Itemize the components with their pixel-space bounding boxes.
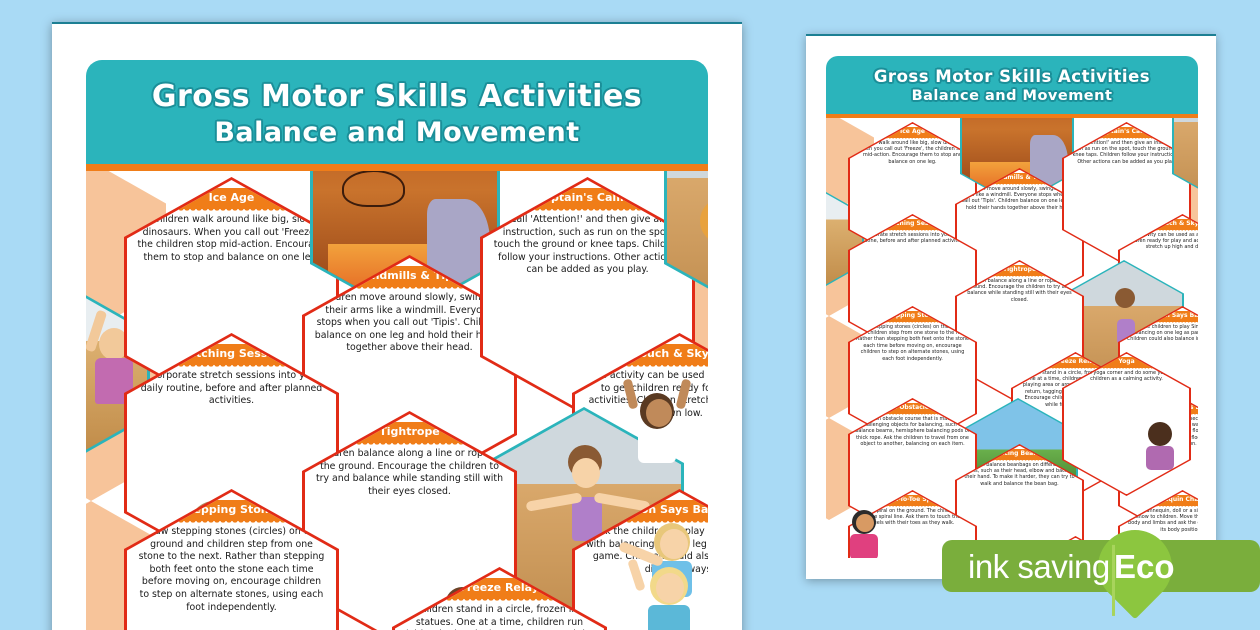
poster-large: Gross Motor Skills Activities Balance an… [86, 60, 708, 630]
illustration-boy-bottom-right [628, 557, 708, 630]
child-hair [700, 199, 708, 243]
thumbnail-poster-page[interactable]: Gross Motor Skills Activities Balance an… [806, 34, 1216, 579]
card-title: Captain's Calling [510, 188, 665, 209]
card-text: Call 'Attention!' and then give an instr… [1064, 138, 1190, 166]
header-divider [86, 164, 708, 171]
illustration-boy-arms-up [624, 379, 690, 469]
poster-header: Gross Motor Skills Activities Balance an… [86, 60, 708, 164]
poster-title-line1: Gross Motor Skills Activities [832, 66, 1192, 87]
gymnast-arm-right [594, 492, 651, 512]
poster-title-line2: Balance and Movement [832, 87, 1192, 106]
eco-leaf-label: Eco [1114, 548, 1175, 586]
poster-title-line2: Balance and Movement [96, 116, 698, 150]
poster-header-small: Gross Motor Skills Activities Balance an… [826, 56, 1198, 114]
poster-title-line1: Gross Motor Skills Activities [96, 78, 698, 116]
card-text: Call 'Attention!' and then give an instr… [483, 209, 692, 277]
main-poster-page: Gross Motor Skills Activities Balance an… [52, 22, 742, 630]
card-title: Ice Age [866, 127, 959, 138]
ink-saving-eco-badge: ink saving Eco [942, 534, 1260, 598]
illustration-girl-bottom-left [842, 508, 888, 558]
cave-animal-drawing [342, 171, 405, 207]
hex-grid: Ice Age Children walk around like big, s… [86, 171, 708, 630]
illustration-child-arms-up-small [1136, 414, 1184, 470]
hex-grid-small: Ice Age Children walk around like big, s… [826, 118, 1198, 558]
eco-label: ink saving [968, 548, 1110, 586]
card-title: Captain's Calling [1080, 127, 1173, 138]
card-title: Ice Age [154, 188, 309, 209]
poster-small: Gross Motor Skills Activities Balance an… [826, 56, 1198, 568]
gymnast-face [572, 458, 600, 488]
card-text: Draw stepping stones (circles) on the gr… [127, 521, 336, 614]
